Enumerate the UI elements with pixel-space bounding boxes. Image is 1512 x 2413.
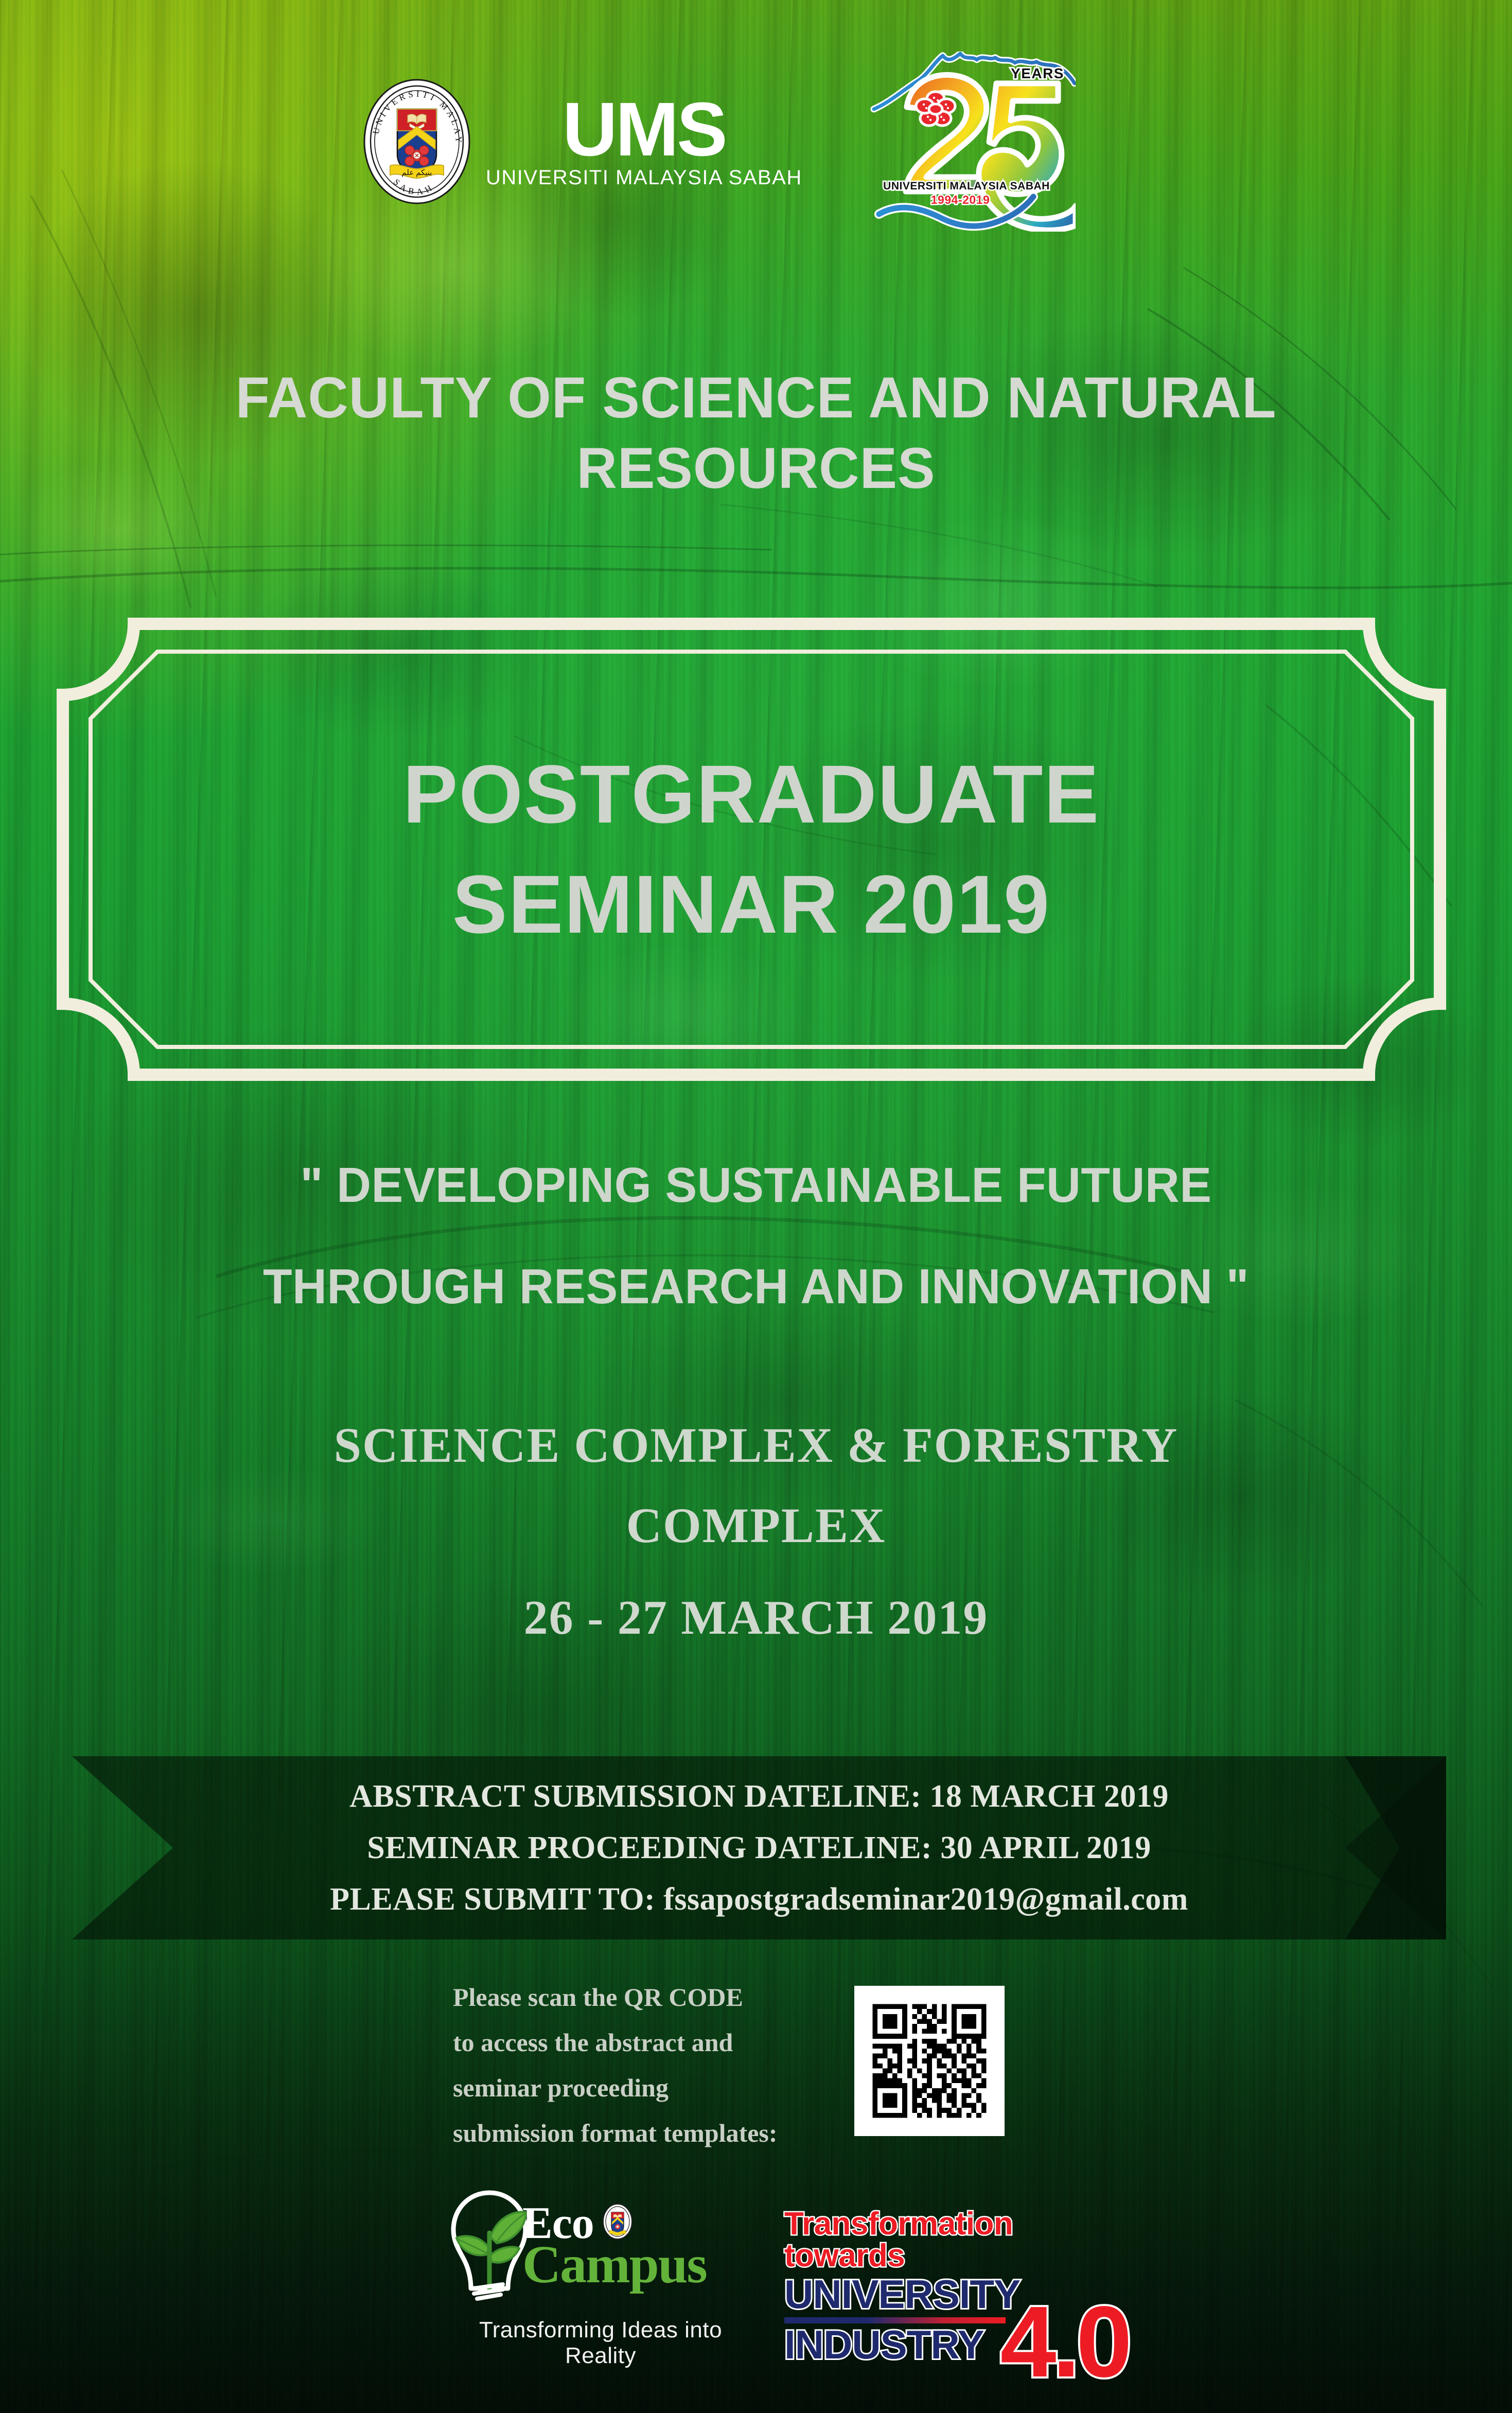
deadline-text-group: ABSTRACT SUBMISSION DATELINE: 18 MARCH 2… (72, 1745, 1446, 1951)
qr-instruction-line2: to access the abstract and (453, 2020, 823, 2065)
qr-instruction-line1: Please scan the QR CODE (453, 1974, 823, 2020)
ums-crest-icon: UNIVERSITI MALAYSIA SABAH (360, 77, 473, 206)
ums-wordmark-subtext: UNIVERSITI MALAYSIA SABAH (486, 166, 802, 189)
anniversary-span-label: 1994-2019 (931, 193, 990, 206)
eco-campus-logo: Eco Campus Transforming Ideas into Reali… (440, 2188, 759, 2357)
qr-code-icon[interactable] (854, 1986, 1005, 2136)
anniversary-years-label: YEARS (1011, 65, 1064, 81)
event-tagline: " DEVELOPING SUSTAINABLE FUTURE THROUGH … (26, 1135, 1485, 1338)
campus-word: Campus (522, 2238, 759, 2292)
venue-line2: COMPLEX (0, 1485, 1512, 1566)
event-title-line1: POSTGRADUATE (403, 753, 1100, 835)
anniversary-25-years-icon: YEARS UNIVERSITI MALAYSIA SABAH 1994-201… (870, 51, 1076, 232)
deadline-ribbon: ABSTRACT SUBMISSION DATELINE: 18 MARCH 2… (72, 1745, 1446, 1951)
header-logos: UNIVERSITI MALAYSIA SABAH (0, 0, 1512, 170)
event-title-line2: SEMINAR 2019 (452, 863, 1050, 946)
qr-instruction-line3: seminar proceeding (453, 2065, 823, 2110)
ums-wordmark: UMS UNIVERSITI MALAYSIA SABAH (486, 94, 802, 189)
industry-40-number: 4.0 (1000, 2299, 1128, 2386)
tagline-line2: THROUGH RESEARCH AND INNOVATION " (26, 1236, 1485, 1338)
ums-wordmark-text: UMS (562, 94, 726, 165)
venue-line1: SCIENCE COMPLEX & FORESTRY (0, 1405, 1512, 1485)
eco-campus-wordmark: Eco Campus (522, 2202, 759, 2292)
event-title-frame: POSTGRADUATE SEMINAR 2019 (57, 618, 1446, 1081)
event-title: POSTGRADUATE SEMINAR 2019 (57, 618, 1446, 1081)
industry-40-logo: Transformation towards UNIVERSITY INDUST… (767, 2208, 1127, 2347)
svg-text:بنيكم علم: بنيكم علم (401, 169, 432, 177)
poster-canvas: UNIVERSITI MALAYSIA SABAH (0, 0, 1512, 2413)
qr-instructions: Please scan the QR CODE to access the ab… (453, 1974, 823, 2156)
industry-40-top-text: Transformation towards (784, 2208, 1127, 2272)
event-date: 26 - 27 MARCH 2019 (0, 1565, 1512, 1671)
qr-section: Please scan the QR CODE to access the ab… (453, 1971, 1034, 2152)
eco-campus-tagline: Transforming Ideas into Reality (446, 2317, 755, 2369)
tagline-line1: " DEVELOPING SUSTAINABLE FUTURE (26, 1135, 1485, 1236)
ums-logo-lockup: UNIVERSITI MALAYSIA SABAH (360, 77, 802, 206)
industry-40-body: UNIVERSITY INDUSTRY 4.0 (767, 2274, 1127, 2365)
deadline-proceeding: SEMINAR PROCEEDING DATELINE: 30 APRIL 20… (367, 1824, 1151, 1872)
deadline-submit-email: PLEASE SUBMIT TO: fssapostgradseminar201… (330, 1875, 1188, 1924)
qr-instruction-line4: submission format templates: (453, 2110, 823, 2156)
faculty-title: FACULTY OF SCIENCE AND NATURAL RESOURCES (23, 363, 1489, 503)
qr-code-matrix (868, 1999, 991, 2123)
anniversary-org-label: UNIVERSITI MALAYSIA SABAH (883, 180, 1050, 192)
venue-and-date: SCIENCE COMPLEX & FORESTRY COMPLEX 26 - … (0, 1405, 1512, 1671)
deadline-abstract: ABSTRACT SUBMISSION DATELINE: 18 MARCH 2… (349, 1772, 1169, 1821)
faculty-title-line2: RESOURCES (23, 433, 1489, 504)
faculty-title-line1: FACULTY OF SCIENCE AND NATURAL (23, 363, 1489, 433)
